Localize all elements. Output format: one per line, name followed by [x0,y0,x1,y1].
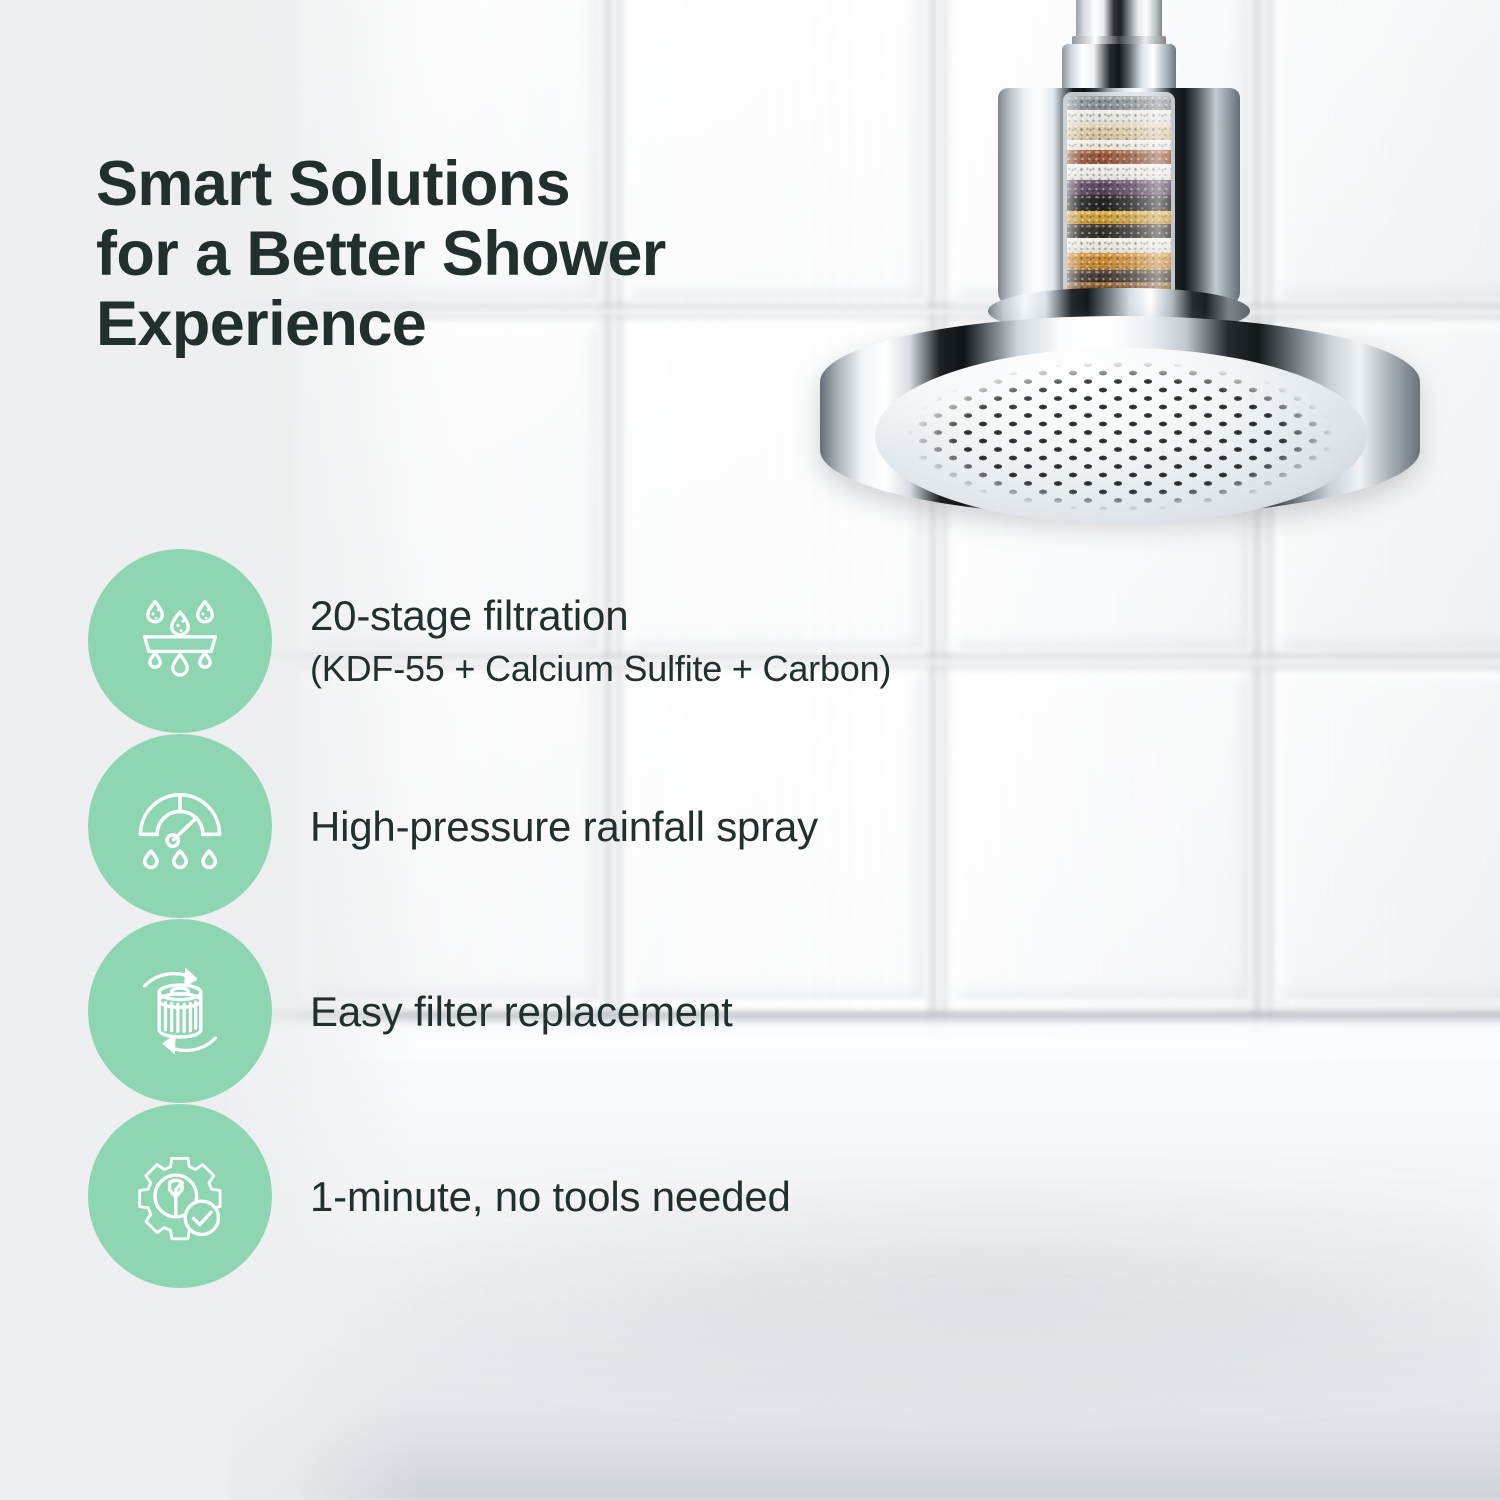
page-title: Smart Solutions for a Better Shower Expe… [96,150,886,360]
feature-item-filtration: 20-stage filtration (KDF-55 + Calcium Su… [88,548,1118,733]
feature-text: Easy filter replacement [310,986,1118,1035]
feature-title: Easy filter replacement [310,988,1118,1035]
gear-wrench-check-icon [128,1144,232,1248]
feature-item-install: 1-minute, no tools needed [88,1103,1118,1288]
filter-layer [1067,238,1171,253]
filter-layer [1067,164,1171,181]
feature-text: 1-minute, no tools needed [310,1171,1118,1220]
filter-cartridge-refresh-icon [128,959,232,1063]
feature-icon-badge [88,734,272,918]
feature-title: 1-minute, no tools needed [310,1173,1118,1220]
filter-media-window [1067,96,1171,304]
feature-subtitle: (KDF-55 + Calcium Sulfite + Carbon) [310,646,1118,691]
feature-title: 20-stage filtration [310,592,1118,639]
filter-layer [1067,253,1171,270]
filter-layer [1067,110,1171,125]
product-infographic-poster: Smart Solutions for a Better Shower Expe… [0,0,1500,1500]
filter-layer [1067,270,1171,282]
filter-layer [1067,211,1171,223]
filter-layer [1067,96,1171,110]
filter-layer [1067,140,1171,150]
feature-item-replacement: Easy filter replacement [88,918,1118,1103]
wall-tile-panel [1275,670,1500,1000]
shower-collar [1062,44,1176,94]
feature-item-pressure: High-pressure rainfall spray [88,733,1118,918]
feature-title: High-pressure rainfall spray [310,803,1118,850]
filter-layer [1067,224,1171,239]
filter-layer [1067,195,1171,212]
filter-layer [1067,150,1171,164]
shower-head-product-image [800,0,1440,552]
feature-icon-badge [88,919,272,1103]
filter-layer [1067,124,1171,140]
feature-text: High-pressure rainfall spray [310,801,1118,850]
pressure-gauge-icon [128,774,232,878]
shower-spray-face [875,348,1367,524]
feature-list: 20-stage filtration (KDF-55 + Calcium Su… [88,548,1118,1288]
feature-icon-badge [88,549,272,733]
feature-text: 20-stage filtration (KDF-55 + Calcium Su… [310,590,1118,690]
spray-nozzle-grid [893,356,1349,516]
filter-layer [1067,180,1171,195]
filtration-droplets-icon [128,589,232,693]
feature-icon-badge [88,1104,272,1288]
